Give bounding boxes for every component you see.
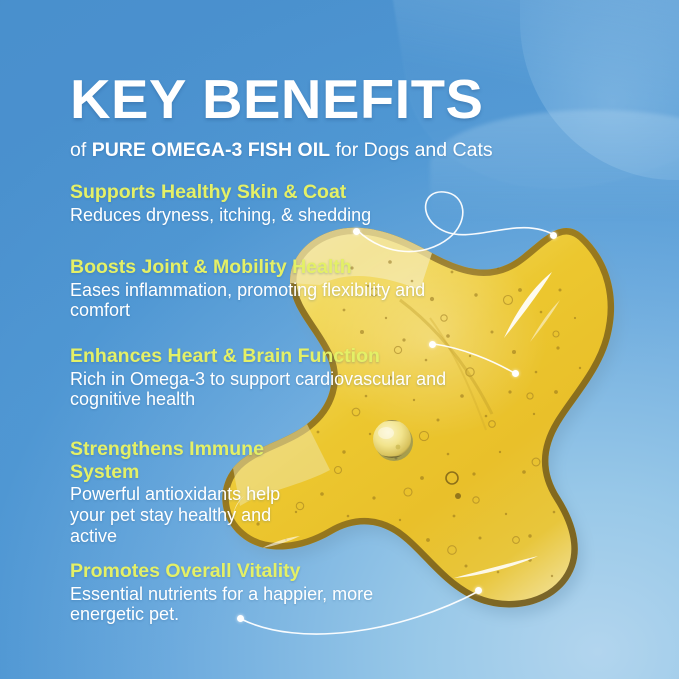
vignette-overlay [0,0,679,679]
key-benefits-poster: KEY BENEFITS of PURE OMEGA-3 FISH OIL fo… [0,0,679,679]
